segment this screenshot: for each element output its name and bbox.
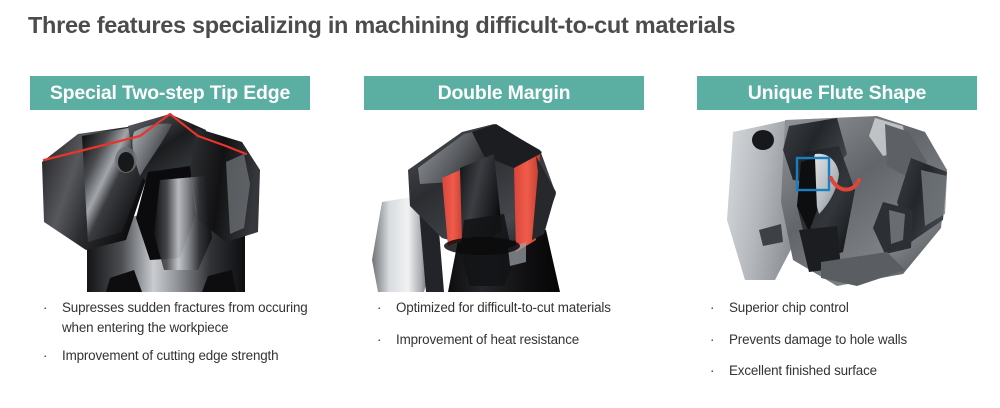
bullet-text: Supresses sudden fractures from occuring…	[62, 298, 316, 337]
feature-header-double-margin: Double Margin	[364, 76, 644, 110]
bullet-text: Prevents damage to hole walls	[729, 330, 983, 350]
list-item: · Improvement of cutting edge strength	[36, 346, 316, 366]
list-item: · Prevents damage to hole walls	[703, 330, 983, 350]
list-item: · Superior chip control	[703, 298, 983, 318]
drill-double-margin-photo	[364, 110, 644, 292]
bullet-text: Superior chip control	[729, 298, 983, 318]
bullet-marker-icon: ·	[710, 298, 714, 318]
list-item: · Supresses sudden fractures from occuri…	[36, 298, 316, 337]
bullet-text: Excellent finished surface	[729, 361, 983, 381]
feature-column-double-margin: Double Margin	[364, 76, 644, 398]
feature-column-special-two-step-tip-edge: Special Two-step Tip Edge	[30, 76, 310, 398]
bullet-marker-icon: ·	[710, 361, 714, 381]
bullet-text: Improvement of cutting edge strength	[62, 346, 316, 366]
bullet-marker-icon: ·	[43, 346, 47, 366]
bullet-list-special-two-step-tip-edge: · Supresses sudden fractures from occuri…	[36, 298, 316, 375]
page-title: Three features specializing in machining…	[28, 12, 968, 39]
bullet-list-double-margin: · Optimized for difficult-to-cut materia…	[370, 298, 650, 361]
bullet-text: Improvement of heat resistance	[396, 330, 650, 350]
list-item: · Excellent finished surface	[703, 361, 983, 381]
feature-header-unique-flute-shape: Unique Flute Shape	[697, 76, 977, 110]
bullet-marker-icon: ·	[377, 330, 381, 350]
bullet-marker-icon: ·	[377, 298, 381, 318]
bullet-text: Optimized for difficult-to-cut materials	[396, 298, 650, 318]
drill-tip-two-step-edge-photo	[30, 110, 310, 292]
bullet-marker-icon: ·	[43, 298, 47, 318]
bullet-marker-icon: ·	[710, 330, 714, 350]
feature-header-special-two-step-tip-edge: Special Two-step Tip Edge	[30, 76, 310, 110]
feature-column-unique-flute-shape: Unique Flute Shape	[697, 76, 977, 398]
list-item: · Improvement of heat resistance	[370, 330, 650, 350]
drill-flute-shape-photo	[697, 110, 977, 292]
list-item: · Optimized for difficult-to-cut materia…	[370, 298, 650, 318]
bullet-list-unique-flute-shape: · Superior chip control · Prevents damag…	[703, 298, 983, 393]
